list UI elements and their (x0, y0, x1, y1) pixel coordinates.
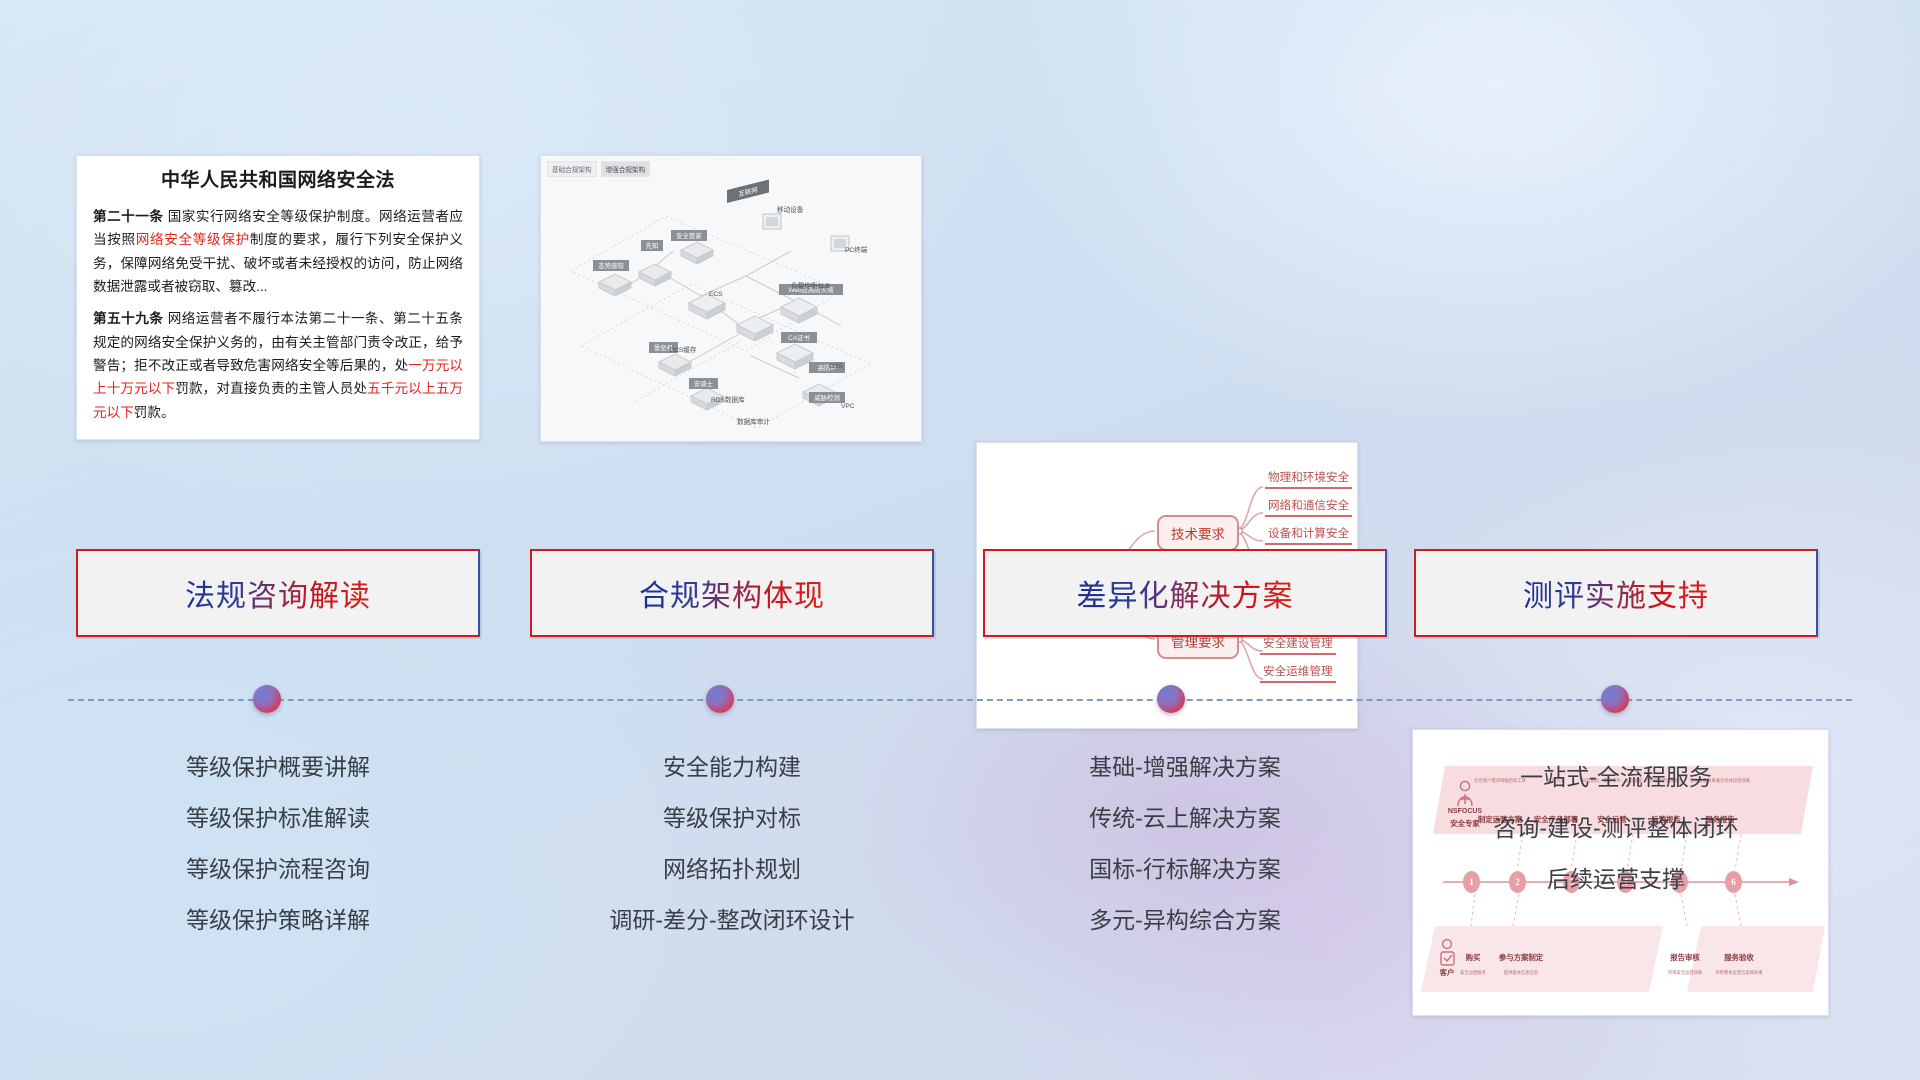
arch-node-label: RDS数据库 (711, 395, 745, 404)
mindmap-leaf: 网络和通信安全 (1265, 497, 1352, 517)
screenshot-card-law: 中华人民共和国网络安全法 第二十一条 国家实行网络安全等级保护制度。网络运营者应… (76, 155, 480, 440)
arch-node-label: ECS (709, 291, 723, 298)
arch-node-label: 数据库审计 (737, 417, 770, 426)
arch-diagram: 安全管家先知态势感知堡垒机安骑士Web应用防火墙CA证书高防IP威胁检测 ECS… (541, 156, 921, 441)
arch-chip-label: 态势感知 (598, 261, 624, 270)
title-plate-label: 法规咨询解读 (185, 571, 371, 615)
bullet-item: 等级保护概要讲解 (76, 742, 480, 793)
mindmap-leaf: 安全运维管理 (1260, 663, 1336, 683)
law-title: 中华人民共和国网络安全法 (93, 170, 463, 193)
arch-chip-label: CA证书 (788, 333, 810, 342)
mindmap-leaf: 设备和计算安全 (1265, 525, 1352, 545)
law-paragraph: 第五十九条 网络运营者不履行本法第二十一条、第二十五条规定的网络安全保护义务的，… (93, 307, 463, 424)
mindmap-leaf: 安全建设管理 (1260, 635, 1336, 655)
bullet-item: 安全能力构建 (530, 742, 934, 793)
bullet-item: 后续运营支撑 (1414, 854, 1818, 905)
law-highlight-text: 网络安全等级保护 (136, 232, 250, 247)
screenshot-card-architecture: 基础合规架构 增强合规架构 (540, 155, 922, 442)
arch-node-label: VPC (841, 403, 855, 410)
bullet-item: 一站式-全流程服务 (1414, 752, 1818, 803)
bullet-item: 等级保护标准解读 (76, 793, 480, 844)
arch-node-label: 移动设备 (777, 205, 804, 214)
law-text: 罚款。 (134, 405, 175, 420)
bullet-item: 多元-异构综合方案 (983, 895, 1387, 946)
timeline-dot-4 (1601, 685, 1629, 713)
law-article-number: 第五十九条 (93, 311, 163, 326)
bullet-item: 调研-差分-整改闭环设计 (530, 895, 934, 946)
bullet-item: 网络拓扑规划 (530, 844, 934, 895)
title-plate-1[interactable]: 法规咨询解读 (76, 549, 480, 637)
law-text: 罚款，对直接负责的主管人员处 (175, 381, 367, 396)
arch-internet-banner: 互联网 (727, 180, 769, 203)
arch-node-label: OCS缓存 (669, 345, 697, 354)
law-body: 第二十一条 国家实行网络安全等级保护制度。网络运营者应当按照网络安全等级保护制度… (93, 205, 463, 424)
arch-chip-label: 安全管家 (676, 231, 702, 240)
bullet-column-4: 一站式-全流程服务咨询-建设-测评整体闭环后续运营支撑 (1414, 752, 1818, 905)
timeline-dot-3 (1157, 685, 1185, 713)
bullet-item: 国标-行标解决方案 (983, 844, 1387, 895)
arch-chip-label: 安骑士 (694, 379, 714, 388)
arch-chip-label: 先知 (646, 241, 659, 250)
timeline-dot-1 (253, 685, 281, 713)
mindmap-leaf: 物理和环境安全 (1265, 469, 1352, 489)
timeline-step-sub: 评审整体运营方案和效果 (1706, 970, 1772, 976)
bullet-item: 传统-云上解决方案 (983, 793, 1387, 844)
bullet-column-3: 基础-增强解决方案传统-云上解决方案国标-行标解决方案多元-异构综合方案 (983, 742, 1387, 946)
law-article-number: 第二十一条 (93, 209, 163, 224)
title-plate-3[interactable]: 差异化解决方案 (983, 549, 1387, 637)
bullet-column-1: 等级保护概要讲解等级保护标准解读等级保护流程咨询等级保护策略详解 (76, 742, 480, 946)
title-plate-label: 测评实施支持 (1523, 571, 1709, 615)
title-plate-2[interactable]: 合规架构体现 (530, 549, 934, 637)
bullet-item: 等级保护策略详解 (76, 895, 480, 946)
arch-chip-label: 威胁检测 (814, 393, 840, 402)
timeline-step-main: 服务验收 (1706, 952, 1772, 963)
title-plate-label: 合规架构体现 (639, 571, 825, 615)
bullet-column-2: 安全能力构建等级保护对标网络拓扑规划调研-差分-整改闭环设计 (530, 742, 934, 946)
timeline-axis (68, 699, 1852, 701)
title-plate-label: 差异化解决方案 (1077, 571, 1294, 615)
bullet-item: 咨询-建设-测评整体闭环 (1414, 803, 1818, 854)
arch-node-label: OSS (829, 363, 844, 370)
timeline-step-main: 参与方案制定 (1488, 952, 1554, 963)
bullet-item: 基础-增强解决方案 (983, 742, 1387, 793)
arch-node-label: PC终端 (845, 245, 868, 254)
law-paragraph: 第二十一条 国家实行网络安全等级保护制度。网络运营者应当按照网络安全等级保护制度… (93, 205, 463, 299)
mindmap-branch-technical: 技术要求 (1157, 515, 1239, 551)
timeline-step-sub: 提供基本信息信息 (1488, 970, 1554, 976)
title-plate-4[interactable]: 测评实施支持 (1414, 549, 1818, 637)
bullet-item: 等级保护对标 (530, 793, 934, 844)
timeline-dot-2 (706, 685, 734, 713)
arch-node-label: 负载均衡SLB (791, 281, 830, 290)
bullet-item: 等级保护流程咨询 (76, 844, 480, 895)
